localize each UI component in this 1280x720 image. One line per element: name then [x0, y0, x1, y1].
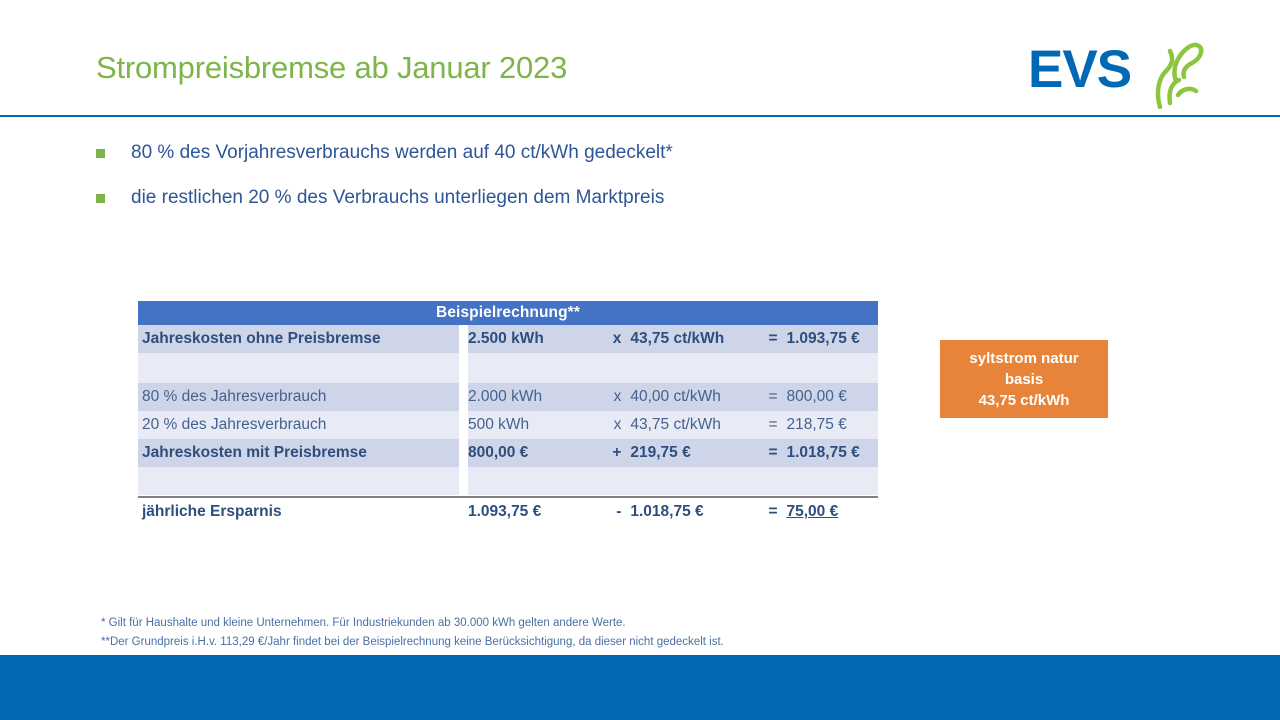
row-value1 — [468, 467, 604, 495]
page-title: Strompreisbremse ab Januar 2023 — [96, 48, 567, 88]
row-value2: 43,75 ct/kWh — [625, 325, 762, 353]
row-value2 — [625, 467, 762, 495]
callout-line-1: syltstrom natur — [969, 348, 1078, 369]
header-divider — [0, 115, 1280, 117]
cell-gap — [459, 383, 468, 411]
list-item: die restlichen 20 % des Verbrauchs unter… — [96, 185, 916, 211]
row-equals — [762, 467, 781, 495]
leaf-mark-icon — [1146, 33, 1204, 109]
row-equals: = — [762, 325, 781, 353]
row-result: 218,75 € — [782, 411, 879, 439]
example-calculation-table: Beispielrechnung** Jahreskosten ohne Pre… — [138, 301, 878, 526]
row-label: Jahreskosten mit Preisbremse — [138, 439, 459, 467]
row-operator: x — [604, 325, 625, 353]
row-equals: = — [762, 383, 781, 411]
row-value2 — [625, 353, 762, 383]
table-total-row: jährliche Ersparnis 1.093,75 € - 1.018,7… — [138, 498, 878, 526]
row-label — [138, 353, 459, 383]
row-result: 800,00 € — [782, 383, 879, 411]
evs-logo: EVS — [1028, 33, 1204, 105]
row-result: 1.093,75 € — [782, 325, 879, 353]
total-label: jährliche Ersparnis — [138, 498, 459, 526]
table-header-row: Beispielrechnung** — [138, 301, 878, 325]
table-row: Jahreskosten ohne Preisbremse 2.500 kWh … — [138, 325, 878, 353]
row-label: 20 % des Jahresverbrauch — [138, 411, 459, 439]
total-equals: = — [762, 498, 781, 526]
square-bullet-icon — [96, 149, 105, 158]
row-equals — [762, 353, 781, 383]
row-equals: = — [762, 411, 781, 439]
table-row-spacer — [138, 467, 878, 495]
row-value1: 500 kWh — [468, 411, 604, 439]
table-row: 80 % des Jahresverbrauch 2.000 kWh x 40,… — [138, 383, 878, 411]
row-operator: + — [604, 439, 625, 467]
row-label — [138, 467, 459, 495]
cell-gap — [459, 411, 468, 439]
footer-bar — [0, 655, 1280, 720]
row-value2: 219,75 € — [625, 439, 762, 467]
footnote-2: **Der Grundpreis i.H.v. 113,29 €/Jahr fi… — [101, 633, 724, 652]
callout-line-2: basis — [1005, 369, 1043, 390]
table-header-title: Beispielrechnung** — [138, 301, 878, 325]
row-operator: x — [604, 383, 625, 411]
bullet-text: die restlichen 20 % des Verbrauchs unter… — [131, 185, 664, 211]
cell-gap — [459, 325, 468, 353]
row-result: 1.018,75 € — [782, 439, 879, 467]
row-value2: 43,75 ct/kWh — [625, 411, 762, 439]
table-row: Jahreskosten mit Preisbremse 800,00 € + … — [138, 439, 878, 467]
logo-wordmark: EVS — [1028, 39, 1131, 100]
total-value2: 1.018,75 € — [625, 498, 762, 526]
row-label: Jahreskosten ohne Preisbremse — [138, 325, 459, 353]
square-bullet-icon — [96, 194, 105, 203]
row-label: 80 % des Jahresverbrauch — [138, 383, 459, 411]
row-value1 — [468, 353, 604, 383]
footnote-1: * Gilt für Haushalte und kleine Unterneh… — [101, 614, 724, 633]
row-value1: 2.500 kWh — [468, 325, 604, 353]
slide-canvas: Strompreisbremse ab Januar 2023 EVS 80 %… — [0, 0, 1280, 720]
bullet-text: 80 % des Vorjahresverbrauchs werden auf … — [131, 140, 673, 166]
tariff-callout: syltstrom natur basis 43,75 ct/kWh — [940, 340, 1108, 418]
row-operator — [604, 353, 625, 383]
footnotes: * Gilt für Haushalte und kleine Unterneh… — [101, 614, 724, 652]
list-item: 80 % des Vorjahresverbrauchs werden auf … — [96, 140, 916, 166]
callout-line-3: 43,75 ct/kWh — [979, 390, 1070, 411]
cell-gap — [459, 467, 468, 495]
cell-gap — [459, 353, 468, 383]
cell-gap — [459, 498, 468, 526]
bullet-list: 80 % des Vorjahresverbrauchs werden auf … — [96, 140, 916, 230]
row-value1: 800,00 € — [468, 439, 604, 467]
row-operator — [604, 467, 625, 495]
row-result — [782, 467, 879, 495]
row-result — [782, 353, 879, 383]
row-value1: 2.000 kWh — [468, 383, 604, 411]
table-row: 20 % des Jahresverbrauch 500 kWh x 43,75… — [138, 411, 878, 439]
cell-gap — [459, 439, 468, 467]
row-value2: 40,00 ct/kWh — [625, 383, 762, 411]
table-row-spacer — [138, 353, 878, 383]
total-operator: - — [604, 498, 625, 526]
total-value1: 1.093,75 € — [468, 498, 604, 526]
row-operator: x — [604, 411, 625, 439]
total-result: 75,00 € — [782, 498, 879, 526]
row-equals: = — [762, 439, 781, 467]
